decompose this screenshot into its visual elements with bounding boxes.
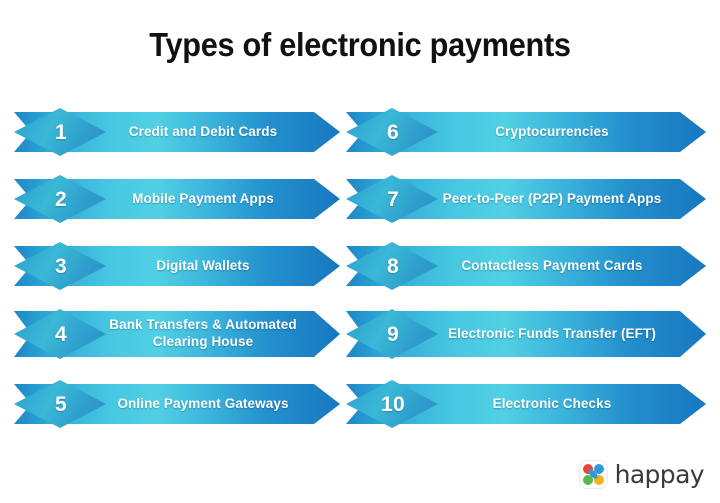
item-label: Peer-to-Peer (P2P) Payment Apps: [443, 191, 662, 208]
happay-logo[interactable]: happay: [579, 460, 704, 489]
item-label-wrap: Credit and Debit Cards: [92, 108, 314, 156]
item-label: Cryptocurrencies: [495, 124, 608, 141]
list-item-1[interactable]: 1 Credit and Debit Cards: [14, 108, 340, 156]
item-label-line2: Clearing House: [109, 334, 296, 351]
item-label-wrap: Peer-to-Peer (P2P) Payment Apps: [424, 175, 680, 223]
list-item-10[interactable]: 10 Electronic Checks: [346, 380, 706, 428]
list-item-6[interactable]: 6 Cryptocurrencies: [346, 108, 706, 156]
item-label: Electronic Checks: [493, 396, 612, 413]
item-number: 6: [385, 122, 399, 143]
item-number: 3: [53, 256, 67, 277]
item-label: Bank Transfers & Automated: [109, 317, 296, 332]
list-item-3[interactable]: 3 Digital Wallets: [14, 242, 340, 290]
item-label: Online Payment Gateways: [117, 396, 288, 413]
item-label-wrap: Electronic Checks: [424, 380, 680, 428]
item-label-wrap: Cryptocurrencies: [424, 108, 680, 156]
item-number: 5: [53, 394, 67, 415]
item-label-wrap: Bank Transfers & Automated Clearing Hous…: [92, 309, 314, 359]
list-item-2[interactable]: 2 Mobile Payment Apps: [14, 175, 340, 223]
item-number: 4: [53, 324, 67, 345]
list-item-4[interactable]: 4 Bank Transfers & Automated Clearing Ho…: [14, 309, 340, 361]
item-label: Mobile Payment Apps: [132, 191, 274, 208]
item-label: Electronic Funds Transfer (EFT): [448, 326, 656, 343]
item-label-wrap: Contactless Payment Cards: [424, 242, 680, 290]
item-label-wrap: Electronic Funds Transfer (EFT): [424, 309, 680, 359]
happay-logo-mark-icon: [579, 460, 608, 489]
item-number: 9: [385, 324, 399, 345]
item-label: Credit and Debit Cards: [129, 124, 277, 141]
list-item-5[interactable]: 5 Online Payment Gateways: [14, 380, 340, 428]
item-number: 7: [385, 189, 399, 210]
page-title: Types of electronic payments: [25, 26, 695, 64]
item-number: 1: [53, 122, 67, 143]
item-label-wrap: Mobile Payment Apps: [92, 175, 314, 223]
item-number: 10: [379, 394, 405, 415]
item-number: 2: [53, 189, 67, 210]
item-label: Digital Wallets: [156, 258, 249, 275]
happay-logo-text: happay: [615, 462, 704, 487]
list-item-7[interactable]: 7 Peer-to-Peer (P2P) Payment Apps: [346, 175, 706, 223]
payment-types-columns: 1 Credit and Debit Cards 2 Mobile Paymen…: [0, 108, 720, 447]
item-label-wrap: Digital Wallets: [92, 242, 314, 290]
infographic-page: Types of electronic payments 1 Credit an…: [0, 0, 720, 503]
list-item-9[interactable]: 9 Electronic Funds Transfer (EFT): [346, 309, 706, 361]
item-number: 8: [385, 256, 399, 277]
list-item-8[interactable]: 8 Contactless Payment Cards: [346, 242, 706, 290]
item-label: Contactless Payment Cards: [461, 258, 642, 275]
right-column: 6 Cryptocurrencies 7 Peer-to-Peer (P2P) …: [340, 108, 720, 447]
left-column: 1 Credit and Debit Cards 2 Mobile Paymen…: [0, 108, 340, 447]
item-label-wrap: Online Payment Gateways: [92, 380, 314, 428]
